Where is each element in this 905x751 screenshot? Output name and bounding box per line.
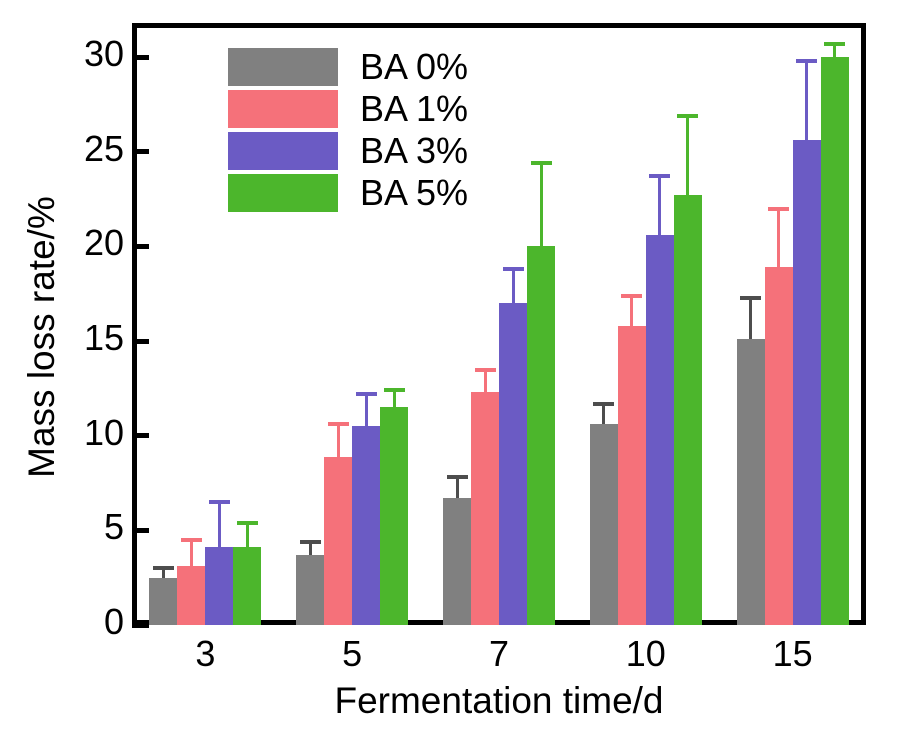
legend-label-ba1: BA 1%	[360, 88, 468, 130]
error-bar-cap	[593, 402, 614, 406]
error-bar-stem	[630, 294, 633, 326]
y-tick-label: 25	[4, 128, 124, 170]
bar-ba-3-7	[499, 303, 527, 625]
error-bar-cap	[740, 296, 761, 300]
error-bar-cap	[447, 475, 468, 479]
x-tick-label: 7	[439, 633, 559, 675]
bar-ba-5-3	[233, 547, 261, 625]
error-bar-cap	[503, 267, 524, 271]
y-tick-label: 5	[4, 506, 124, 548]
error-bar-cap	[153, 566, 174, 570]
y-tick	[132, 55, 149, 60]
legend-label-ba0: BA 0%	[360, 46, 468, 88]
bar-ba-5-5	[380, 407, 408, 625]
error-bar-cap	[677, 114, 698, 118]
legend-item: BA 1%	[228, 88, 468, 130]
bar-ba-3-3	[205, 547, 233, 625]
bar-ba-1-15	[765, 267, 793, 625]
legend-item: BA 5%	[228, 172, 468, 214]
error-bar-stem	[190, 538, 193, 566]
bar-ba-3-15	[793, 140, 821, 625]
bar-ba-1-7	[471, 392, 499, 625]
y-tick-label: 15	[4, 317, 124, 359]
x-axis-title: Fermentation time/d	[132, 680, 866, 722]
error-bar-cap	[181, 538, 202, 542]
bar-ba-5-15	[821, 57, 849, 625]
legend-swatch-ba0	[228, 48, 338, 86]
error-bar-stem	[337, 422, 340, 456]
bar-ba-5-7	[527, 246, 555, 625]
error-bar-stem	[658, 174, 661, 235]
error-bar-cap	[649, 174, 670, 178]
legend-item: BA 3%	[228, 130, 468, 172]
y-tick-label: 10	[4, 412, 124, 454]
legend: BA 0% BA 1% BA 3% BA 5%	[228, 46, 468, 214]
y-tick-label: 0	[4, 601, 124, 643]
legend-swatch-ba5	[228, 174, 338, 212]
legend-swatch-ba1	[228, 90, 338, 128]
error-bar-stem	[749, 296, 752, 340]
bar-ba-0-5	[296, 555, 324, 625]
error-bar-stem	[777, 207, 780, 268]
x-tick-label: 15	[733, 633, 853, 675]
bar-ba-1-5	[324, 457, 352, 625]
y-tick	[132, 528, 149, 533]
error-bar-cap	[621, 294, 642, 298]
error-bar-cap	[531, 161, 552, 165]
error-bar-stem	[218, 500, 221, 547]
y-tick	[132, 339, 149, 344]
error-bar-stem	[365, 392, 368, 426]
bar-ba-3-10	[646, 235, 674, 625]
error-bar-cap	[237, 521, 258, 525]
x-tick-label: 10	[586, 633, 706, 675]
bar-ba-1-10	[618, 326, 646, 625]
error-bar-cap	[384, 388, 405, 392]
legend-label-ba3: BA 3%	[360, 130, 468, 172]
y-tick-label: 20	[4, 222, 124, 264]
error-bar-cap	[209, 500, 230, 504]
error-bar-cap	[475, 368, 496, 372]
bar-ba-0-15	[737, 339, 765, 625]
error-bar-cap	[328, 422, 349, 426]
x-tick-label: 5	[292, 633, 412, 675]
y-tick	[132, 244, 149, 249]
error-bar-stem	[512, 267, 515, 303]
y-tick	[132, 623, 149, 628]
error-bar-cap	[768, 207, 789, 211]
error-bar-stem	[540, 161, 543, 246]
legend-swatch-ba3	[228, 132, 338, 170]
error-bar-cap	[356, 392, 377, 396]
error-bar-cap	[824, 42, 845, 46]
y-tick	[132, 149, 149, 154]
error-bar-cap	[796, 59, 817, 63]
bar-ba-0-3	[149, 578, 177, 625]
bar-ba-3-5	[352, 426, 380, 625]
chart-container: Mass loss rate/% Fermentation time/d BA …	[0, 0, 905, 751]
bar-ba-0-7	[443, 498, 471, 625]
bar-ba-1-3	[177, 566, 205, 625]
legend-item: BA 0%	[228, 46, 468, 88]
legend-label-ba5: BA 5%	[360, 172, 468, 214]
bar-ba-5-10	[674, 195, 702, 625]
y-tick-label: 30	[4, 33, 124, 75]
error-bar-stem	[805, 59, 808, 140]
x-tick-label: 3	[145, 633, 265, 675]
y-tick	[132, 433, 149, 438]
error-bar-stem	[686, 114, 689, 195]
error-bar-cap	[300, 540, 321, 544]
bar-ba-0-10	[590, 424, 618, 625]
